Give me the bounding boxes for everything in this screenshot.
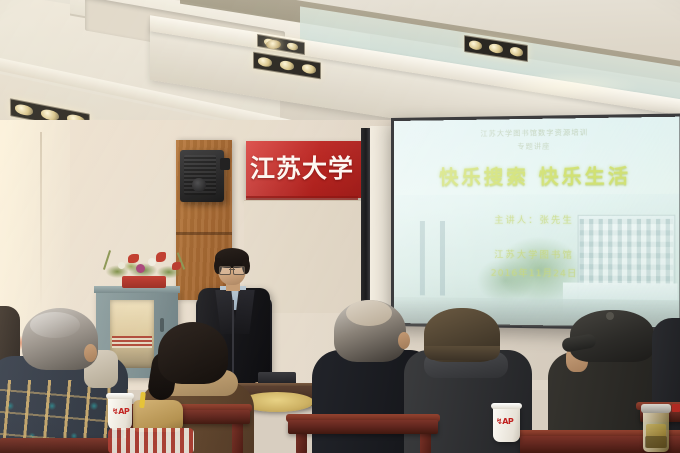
loudspeaker-cone (192, 178, 206, 192)
red-object (672, 404, 680, 412)
jar-label (645, 436, 667, 448)
jar-lid (641, 404, 671, 413)
loudspeaker-bracket (220, 158, 230, 170)
cup-logo: ↯AP (112, 408, 132, 416)
screen-frame-edge (361, 128, 370, 313)
flower-white (148, 258, 156, 266)
flower-red (172, 262, 181, 270)
flower-purple (136, 264, 145, 273)
slide-title: 快乐搜索 快乐生活 (394, 160, 680, 190)
audience-member-head (158, 322, 228, 384)
ceiling-downlight (266, 40, 281, 49)
audience-bald-spot (346, 300, 392, 326)
slide-organization: 江苏大学图书馆 (394, 247, 680, 262)
flower-red (156, 252, 166, 262)
audience-ear (398, 332, 410, 349)
audience-ear (84, 344, 97, 362)
flower-white (118, 262, 125, 269)
banner-text: 江苏大学 (250, 149, 362, 189)
slide-presenter: 主讲人：张先生 (394, 213, 680, 227)
slide-header-line1: 江苏大学图书馆数字资源培训 (394, 126, 680, 140)
light-glow (490, 72, 640, 100)
wall-seam (40, 132, 42, 312)
slide-header-line2: 专题讲座 (394, 140, 680, 153)
pillar (370, 126, 392, 321)
photo-scene: 江苏大学 江苏大学图书馆数字资源培训 专题讲座 快乐搜索 快乐生活 主讲人：张先… (0, 0, 680, 453)
bench (288, 420, 438, 434)
cup-rim (491, 403, 522, 409)
cup-logo: ↯AP (496, 418, 520, 426)
plaid-fabric (108, 428, 194, 453)
flower-box (122, 276, 166, 288)
wood-column-seam (176, 232, 232, 235)
projection-screen: 江苏大学图书馆数字资源培训 专题讲座 快乐搜索 快乐生活 主讲人：张先生 江苏大… (394, 117, 680, 328)
slide-date: 2016年11月24日 (394, 265, 680, 280)
cap-button (606, 312, 614, 320)
cabinet-handle (160, 318, 164, 332)
glasses-bridge (229, 269, 235, 270)
cup-rim (106, 393, 134, 399)
hair-highlight (30, 312, 80, 338)
cabinet-shelf (112, 336, 152, 348)
hood-band (424, 346, 500, 360)
flower-red (128, 254, 139, 263)
